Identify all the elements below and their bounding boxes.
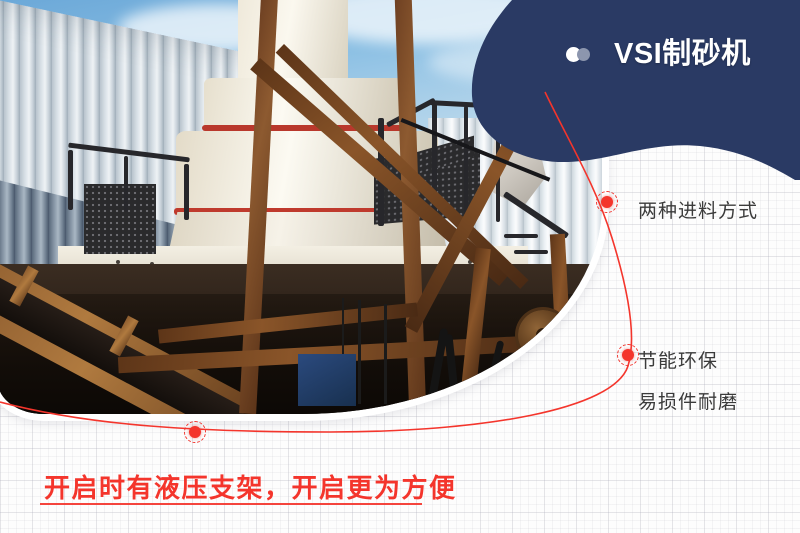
caption-marker <box>184 421 206 443</box>
perforated-panel <box>84 184 156 254</box>
railing <box>124 156 128 212</box>
machine-photo <box>0 0 602 414</box>
equipment-box <box>298 354 356 406</box>
feature-label-2: 节能环保 <box>638 346 718 373</box>
feature-label-1: 两种进料方式 <box>638 196 758 223</box>
railing <box>68 150 73 210</box>
feature-marker-2 <box>617 344 639 366</box>
cable <box>358 300 361 404</box>
caption-underline <box>40 503 422 505</box>
page-title: VSI制砂机 <box>566 40 751 69</box>
feature-label-3: 易损件耐磨 <box>638 387 738 414</box>
railing <box>184 164 189 220</box>
cable <box>384 304 387 404</box>
promo-banner: VSI制砂机 两种进料方式 节能环保 易损件耐磨 开启时有液压支架，开启更为方便 <box>0 0 800 533</box>
bottom-caption: 开启时有液压支架，开启更为方便 <box>44 468 457 505</box>
marker-dot-icon <box>189 426 201 438</box>
marker-dot-icon <box>622 349 634 361</box>
photo-content <box>0 0 602 414</box>
stair-tread <box>514 250 548 254</box>
foliage <box>564 320 602 362</box>
drive-pulley-hub <box>536 328 550 342</box>
double-dot-bullet-icon <box>566 47 600 62</box>
feature-marker-1 <box>596 191 618 213</box>
stair-tread <box>504 234 538 238</box>
marker-dot-icon <box>601 196 613 208</box>
page-title-text: VSI制砂机 <box>614 40 751 69</box>
